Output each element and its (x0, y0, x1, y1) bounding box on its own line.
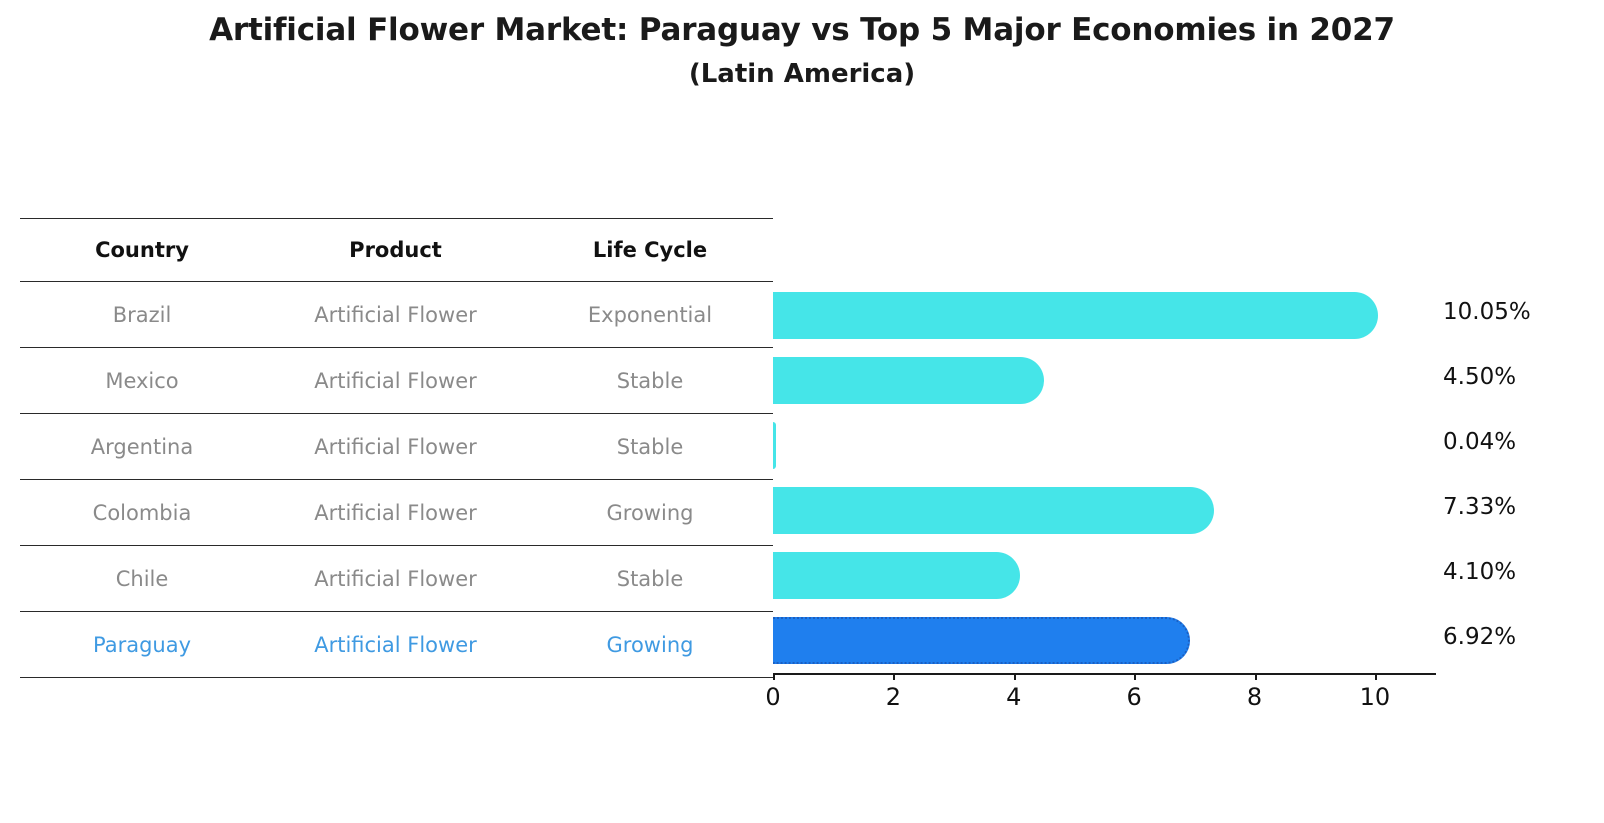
bar-value-label: 7.33% (1443, 494, 1516, 520)
x-tick-mark (1255, 673, 1257, 680)
x-tick-label: 2 (886, 683, 901, 711)
cell-country: Paraguay (20, 612, 264, 678)
table-header-row: Country Product Life Cycle (20, 219, 773, 282)
plot-area: 10.05%4.50%0.04%7.33%4.10%6.92% (773, 283, 1436, 673)
bar-argentina[interactable] (773, 422, 776, 469)
x-axis-line (773, 673, 1436, 675)
bar-colombia[interactable] (773, 487, 1214, 534)
bar-value-label: 6.92% (1443, 624, 1516, 650)
country-data-table: Country Product Life Cycle BrazilArtific… (20, 218, 773, 678)
cell-product: Artificial Flower (264, 414, 527, 480)
cell-life-cycle: Exponential (527, 282, 773, 348)
chart-title-block: Artificial Flower Market: Paraguay vs To… (0, 10, 1604, 92)
cell-life-cycle: Growing (527, 480, 773, 546)
cell-country: Colombia (20, 480, 264, 546)
x-tick-mark (773, 673, 775, 680)
cell-country: Chile (20, 546, 264, 612)
cell-life-cycle: Stable (527, 414, 773, 480)
x-tick-label: 6 (1127, 683, 1142, 711)
column-header-life-cycle: Life Cycle (527, 219, 773, 282)
x-tick-label: 10 (1360, 683, 1391, 711)
cell-product: Artificial Flower (264, 480, 527, 546)
cell-product: Artificial Flower (264, 348, 527, 414)
x-tick-mark (1014, 673, 1016, 680)
bar-chile[interactable] (773, 552, 1020, 599)
bar-row: 0.04% (773, 413, 1436, 478)
bar-row: 4.10% (773, 543, 1436, 608)
x-tick-mark (893, 673, 895, 680)
bar-value-label: 10.05% (1443, 299, 1531, 325)
column-header-country: Country (20, 219, 264, 282)
bar-chart-panel: 10.05%4.50%0.04%7.33%4.10%6.92% 0246810 (773, 283, 1436, 680)
cell-product: Artificial Flower (264, 612, 527, 678)
table-row: ColombiaArtificial FlowerGrowing (20, 480, 773, 546)
x-tick-label: 4 (1006, 683, 1021, 711)
table-row: ParaguayArtificial FlowerGrowing (20, 612, 773, 678)
figure-root: Artificial Flower Market: Paraguay vs To… (0, 0, 1604, 823)
cell-country: Argentina (20, 414, 264, 480)
bar-value-label: 4.50% (1443, 364, 1516, 390)
bar-row: 6.92% (773, 608, 1436, 673)
x-tick-label: 0 (765, 683, 780, 711)
x-tick-mark (1375, 673, 1377, 680)
cell-product: Artificial Flower (264, 282, 527, 348)
column-header-product: Product (264, 219, 527, 282)
bar-value-label: 4.10% (1443, 559, 1516, 585)
cell-country: Mexico (20, 348, 264, 414)
table-row: ChileArtificial FlowerStable (20, 546, 773, 612)
country-data-table-panel: Country Product Life Cycle BrazilArtific… (20, 218, 773, 678)
page-title: Artificial Flower Market: Paraguay vs To… (0, 10, 1604, 51)
cell-country: Brazil (20, 282, 264, 348)
table-row: ArgentinaArtificial FlowerStable (20, 414, 773, 480)
chart-subtitle: (Latin America) (0, 57, 1604, 92)
table-row: BrazilArtificial FlowerExponential (20, 282, 773, 348)
bar-mexico[interactable] (773, 357, 1044, 404)
cell-life-cycle: Stable (527, 348, 773, 414)
bar-paraguay[interactable] (773, 617, 1190, 664)
bar-brazil[interactable] (773, 292, 1378, 339)
cell-life-cycle: Growing (527, 612, 773, 678)
cell-life-cycle: Stable (527, 546, 773, 612)
bar-row: 10.05% (773, 283, 1436, 348)
cell-product: Artificial Flower (264, 546, 527, 612)
x-tick-label: 8 (1247, 683, 1262, 711)
bar-row: 7.33% (773, 478, 1436, 543)
table-row: MexicoArtificial FlowerStable (20, 348, 773, 414)
table-body: BrazilArtificial FlowerExponentialMexico… (20, 282, 773, 678)
bar-value-label: 0.04% (1443, 429, 1516, 455)
x-tick-mark (1134, 673, 1136, 680)
bar-row: 4.50% (773, 348, 1436, 413)
